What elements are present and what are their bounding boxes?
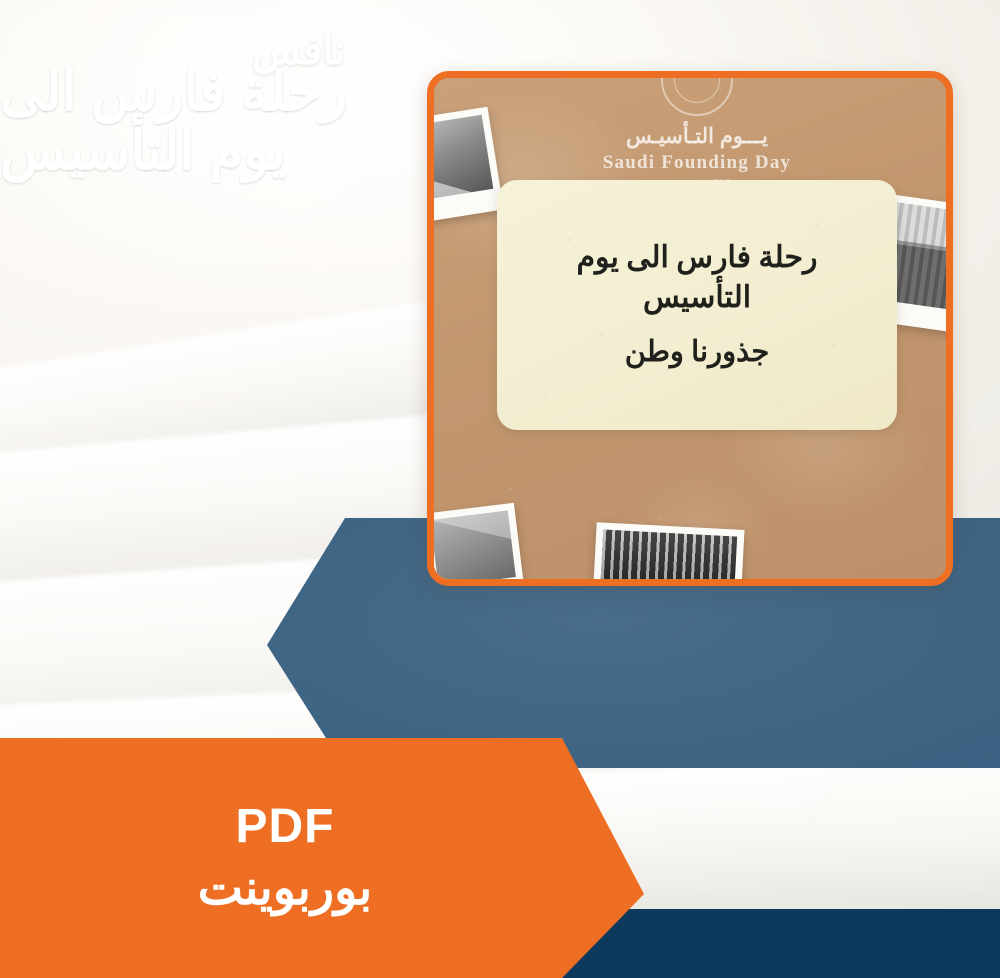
photo-image (434, 115, 493, 199)
format-label-powerpoint: بوربوينت (198, 865, 372, 913)
slide-content: يـــوم التـأسيـس Saudi Founding Day ١١٣٩… (434, 78, 946, 579)
title-line-2: يوم التأسيس (0, 122, 286, 181)
polaroid-bottom-left (434, 503, 526, 579)
photo-image (600, 530, 738, 579)
slide-title-plaque: رحلة فارس الى يوم التأسيس جذورنا وطن (497, 180, 897, 430)
title-line-1: رحلة فارس الى (0, 63, 347, 122)
photo-image (434, 511, 516, 579)
slide-preview-card[interactable]: يـــوم التـأسيـس Saudi Founding Day ١١٣٩… (427, 71, 953, 586)
plaque-subtitle: جذورنا وطن (625, 333, 769, 372)
polaroid-bottom-middle (591, 522, 744, 579)
file-format-banner[interactable]: PDF بوربوينت (0, 738, 660, 978)
plaque-title: رحلة فارس الى يوم التأسيس (523, 238, 871, 319)
format-label-pdf: PDF (236, 803, 335, 851)
